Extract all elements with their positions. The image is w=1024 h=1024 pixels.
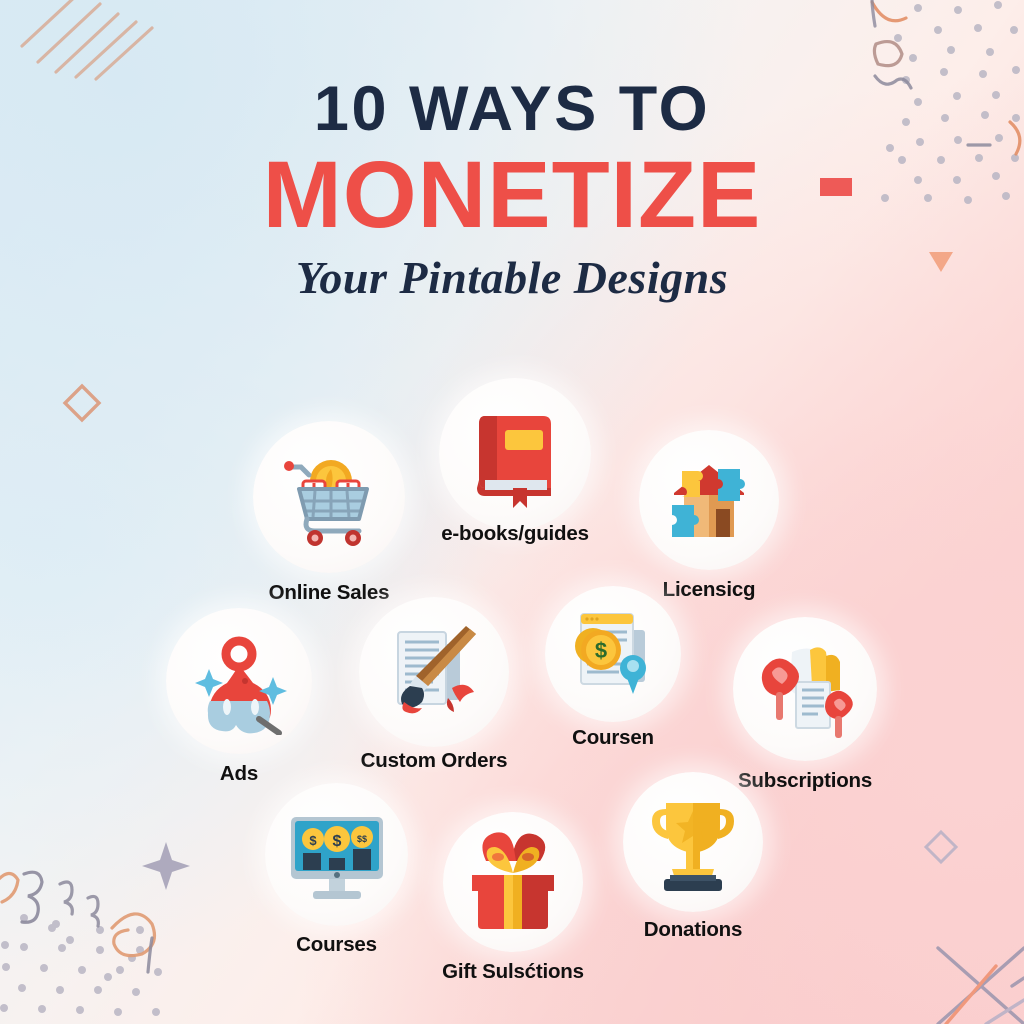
svg-text:$: $ xyxy=(595,638,607,663)
item-licensing[interactable]: Licensicg xyxy=(639,430,779,570)
gift-box-icon xyxy=(458,827,568,937)
cross-lines-bottom-right xyxy=(938,948,1024,1024)
svg-text:$$: $$ xyxy=(356,834,366,844)
headline-line-2: MONETIZE xyxy=(0,146,1024,245)
item-ebooks-guides[interactable]: e-books/guides xyxy=(439,378,591,530)
item-label: Ads xyxy=(220,762,258,786)
item-label: Gift Sulsćtions xyxy=(442,960,584,984)
svg-text:$: $ xyxy=(332,833,341,850)
item-label: Custom Orders xyxy=(361,749,508,773)
hatch-lines-top-left xyxy=(22,0,152,79)
coin-document-icon: $ xyxy=(561,602,665,706)
trophy-icon xyxy=(640,789,746,895)
icon-bubble: $ xyxy=(545,586,681,722)
icon-bubble xyxy=(359,597,509,747)
svg-text:$: $ xyxy=(309,833,317,848)
icon-bubble xyxy=(166,608,312,754)
monitor-coins-icon: $ $ $$ xyxy=(283,801,391,909)
item-donations[interactable]: Donations xyxy=(623,772,763,912)
shopping-cart-icon xyxy=(273,441,385,553)
item-label: Donations xyxy=(644,918,742,942)
headline-subtitle: Your Pintable Designs xyxy=(0,251,1024,304)
icon-bubble xyxy=(439,378,591,530)
headline-line-1: 10 WAYS TO xyxy=(0,78,1024,141)
item-ads[interactable]: Ads xyxy=(166,608,312,754)
icon-bubble xyxy=(639,430,779,570)
item-label: Courses xyxy=(296,933,377,957)
dot-grid-bottom-left xyxy=(0,914,162,1016)
item-label: Coursen xyxy=(572,726,654,750)
item-label: e-books/guides xyxy=(441,522,589,546)
item-online-sales[interactable]: Online Sales xyxy=(253,421,405,573)
item-courses[interactable]: $ $ $$ Courses xyxy=(265,783,408,926)
item-custom-orders[interactable]: Custom Orders xyxy=(359,597,509,747)
item-coursen[interactable]: $ Coursen xyxy=(545,586,681,722)
icon-bubble xyxy=(733,617,877,761)
star-accent-bottom-left xyxy=(142,842,190,890)
doodle-squiggles-bottom-left xyxy=(0,872,154,972)
icon-bubble xyxy=(253,421,405,573)
icon-bubble xyxy=(623,772,763,912)
book-icon xyxy=(461,400,569,508)
item-gift-subscriptions[interactable]: Gift Sulsćtions xyxy=(443,812,583,952)
icon-bubble xyxy=(443,812,583,952)
puzzle-house-icon xyxy=(656,447,762,553)
diamond-accent-right xyxy=(926,832,956,862)
icon-bubble: $ $ $$ xyxy=(265,783,408,926)
heart-document-icon xyxy=(750,634,860,744)
brush-document-icon xyxy=(378,616,490,728)
item-subscriptions[interactable]: Subscriptions xyxy=(733,617,877,761)
paint-blob-icon xyxy=(185,627,293,735)
diamond-accent-left xyxy=(65,386,99,420)
headline-block: 10 WAYS TO MONETIZE Your Pintable Design… xyxy=(0,78,1024,304)
